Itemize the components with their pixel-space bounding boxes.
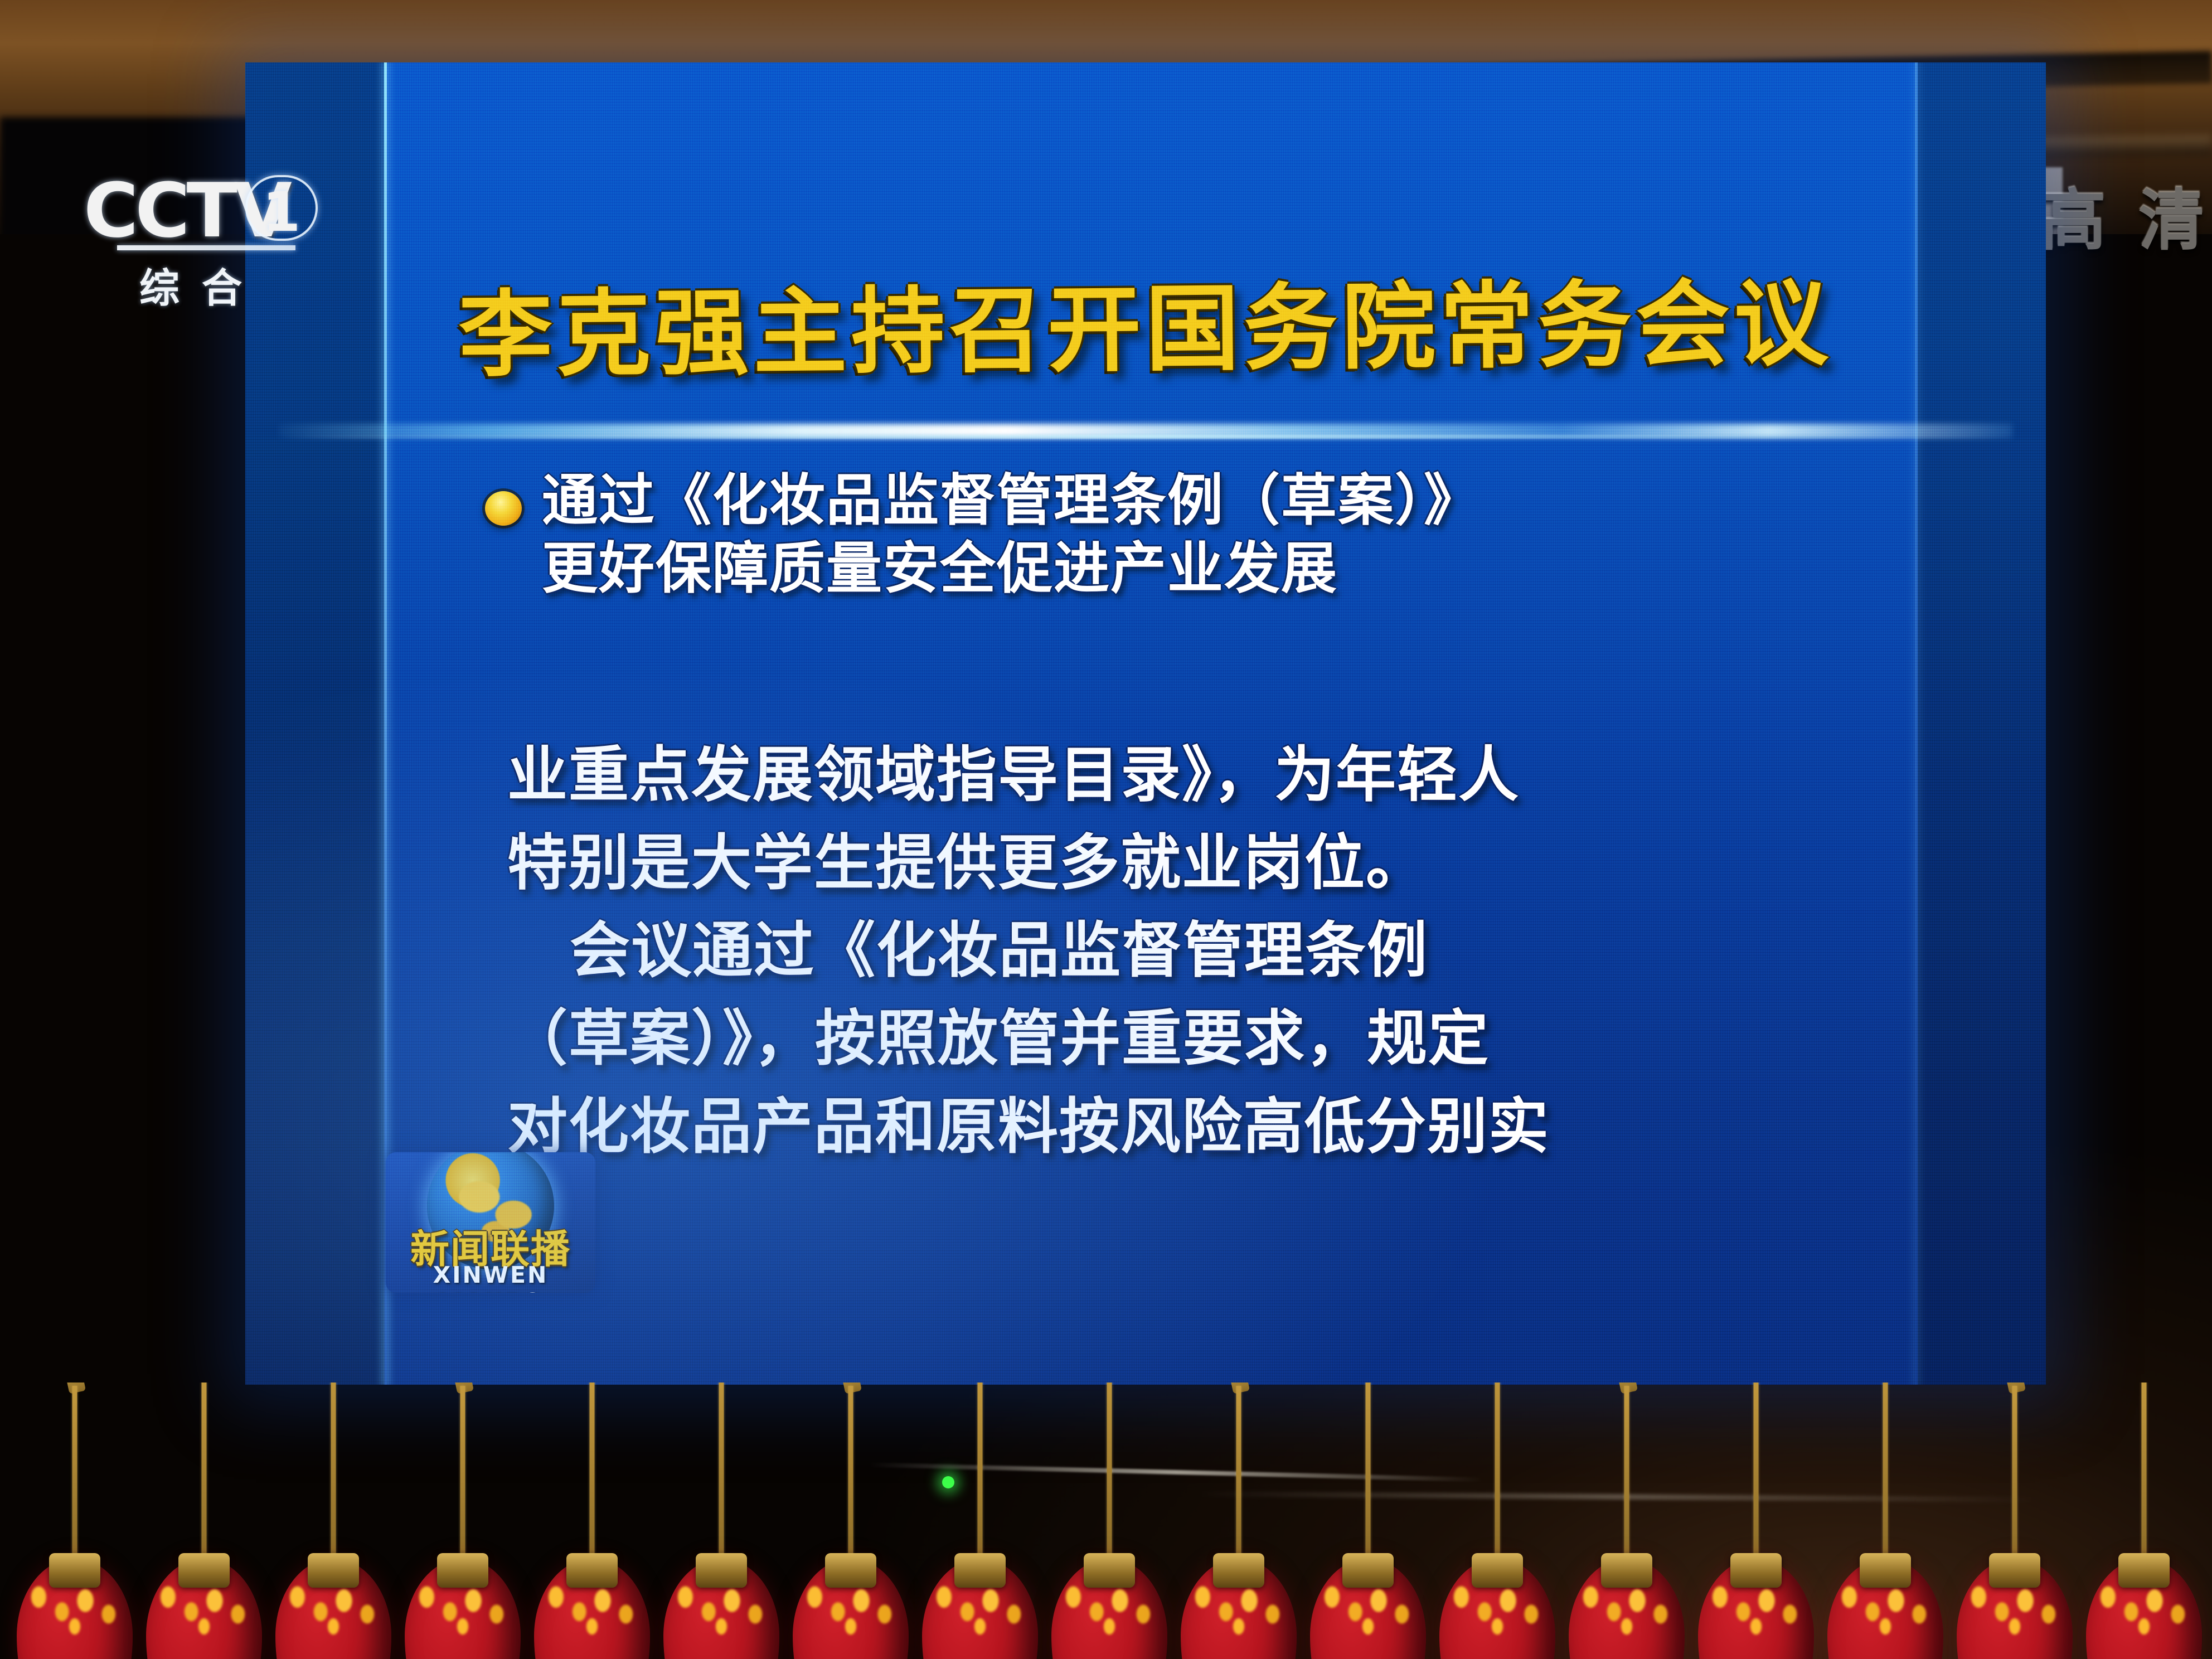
xinwen-lianbo-bug: 新闻联播 XINWEN LIANBO bbox=[386, 1152, 595, 1293]
lantern-rod bbox=[1883, 1382, 1888, 1570]
lantern-gold-ornament bbox=[1186, 1580, 1292, 1641]
lantern bbox=[146, 1382, 262, 1659]
lantern bbox=[663, 1382, 779, 1659]
lantern-gold-ornament bbox=[927, 1580, 1033, 1641]
lantern-rod bbox=[1495, 1382, 1500, 1570]
lantern-gold-ornament bbox=[1832, 1580, 1938, 1641]
lantern-rod bbox=[331, 1382, 336, 1570]
lantern-rod bbox=[978, 1382, 983, 1570]
lantern-rod bbox=[2142, 1382, 2147, 1570]
led-panel-dim-right bbox=[1918, 62, 2046, 1385]
lantern bbox=[1698, 1382, 1814, 1659]
body-line-2: 特别是大学生提供更多就业岗位。 bbox=[507, 819, 1918, 908]
lantern bbox=[1310, 1382, 1426, 1659]
lantern bbox=[275, 1382, 391, 1659]
lantern bbox=[1181, 1382, 1297, 1659]
photo-scene: 高 清 李克强主持召开国务院常务会议 通过《化妆品监督管理条例（草案）》 更好保… bbox=[0, 0, 2212, 1659]
body-line-3: 会议通过《化妆品监督管理条例 bbox=[507, 907, 1918, 995]
lantern-gold-ornament bbox=[1315, 1580, 1421, 1641]
bullet-item: 通过《化妆品监督管理条例（草案）》 更好保障质量安全促进产业发展 bbox=[485, 467, 1879, 603]
lantern-gold-ornament bbox=[2091, 1580, 2197, 1641]
led-display-screen: 李克强主持召开国务院常务会议 通过《化妆品监督管理条例（草案）》 更好保障质量安… bbox=[245, 62, 2046, 1385]
lantern bbox=[1439, 1382, 1555, 1659]
lantern bbox=[1569, 1382, 1685, 1659]
bullet-list: 通过《化妆品监督管理条例（草案）》 更好保障质量安全促进产业发展 bbox=[485, 467, 1879, 603]
bullet-dot-icon bbox=[485, 491, 522, 526]
lantern-rod bbox=[1624, 1386, 1629, 1570]
cctv-channel-logo: CCTV 1 综合 bbox=[84, 167, 329, 295]
lantern-gold-ornament bbox=[22, 1580, 128, 1641]
lantern-gold-ornament bbox=[1962, 1580, 2068, 1641]
lantern-rod bbox=[1754, 1382, 1759, 1570]
lantern-rod bbox=[1107, 1382, 1112, 1570]
lantern-gold-ornament bbox=[410, 1580, 516, 1641]
lantern-rod bbox=[460, 1386, 465, 1570]
channel-number: 1 bbox=[248, 181, 316, 244]
cctv-underline bbox=[117, 245, 295, 250]
lantern-rod bbox=[1366, 1382, 1371, 1570]
lantern-gold-ornament bbox=[1056, 1580, 1162, 1641]
hd-char-qing: 清 bbox=[2138, 167, 2204, 263]
lantern bbox=[1957, 1382, 2073, 1659]
lantern bbox=[1051, 1382, 1167, 1659]
lantern-gold-ornament bbox=[1703, 1580, 1809, 1641]
body-line-1: 业重点发展领域指导目录》，为年轻人 bbox=[507, 731, 1918, 819]
lantern-gold-ornament bbox=[1444, 1580, 1550, 1641]
lantern-gold-ornament bbox=[280, 1580, 386, 1641]
lantern-gold-ornament bbox=[151, 1580, 257, 1641]
lantern bbox=[405, 1382, 521, 1659]
lantern-rod bbox=[2012, 1386, 2017, 1570]
lantern bbox=[534, 1382, 650, 1659]
lantern bbox=[922, 1382, 1038, 1659]
lantern-rod bbox=[590, 1382, 595, 1570]
lantern-gold-ornament bbox=[798, 1580, 904, 1641]
channel-number-badge: 1 bbox=[245, 175, 318, 241]
lantern bbox=[793, 1382, 909, 1659]
lantern-rod bbox=[72, 1386, 77, 1570]
bullet-line-2: 更好保障质量安全促进产业发展 bbox=[542, 535, 1481, 603]
lantern bbox=[17, 1382, 133, 1659]
broadcast-headline: 李克强主持召开国务院常务会议 bbox=[245, 275, 2046, 384]
lantern-gold-ornament bbox=[539, 1580, 645, 1641]
hd-char-gao: 高 bbox=[2040, 167, 2106, 263]
led-panel-seam-right bbox=[1915, 62, 1918, 1385]
lantern-rod bbox=[719, 1382, 724, 1570]
bullet-line-1: 通过《化妆品监督管理条例（草案）》 bbox=[542, 467, 1481, 535]
program-name-en: XINWEN LIANBO bbox=[386, 1262, 595, 1293]
body-line-5: 对化妆品产品和原料按风险高低分别实 bbox=[507, 1083, 1918, 1171]
broadcast-body-text: 业重点发展领域指导目录》，为年轻人 特别是大学生提供更多就业岗位。 会议通过《化… bbox=[507, 731, 1918, 1171]
hd-wall-lettering: 高 清 bbox=[2040, 167, 2204, 263]
lantern bbox=[2086, 1382, 2202, 1659]
lantern-rod bbox=[1236, 1386, 1241, 1570]
body-line-4: （草案）》，按照放管并重要求，规定 bbox=[507, 995, 1918, 1083]
lantern bbox=[1827, 1382, 1943, 1659]
lantern-rod bbox=[202, 1382, 207, 1570]
lantern-gold-ornament bbox=[1574, 1580, 1680, 1641]
lantern-rod bbox=[848, 1386, 853, 1570]
lantern-gold-ornament bbox=[668, 1580, 774, 1641]
lantern-row bbox=[0, 1382, 2212, 1659]
cctv-sub-label: 综合 bbox=[139, 255, 264, 314]
headline-divider-line bbox=[279, 435, 2012, 439]
